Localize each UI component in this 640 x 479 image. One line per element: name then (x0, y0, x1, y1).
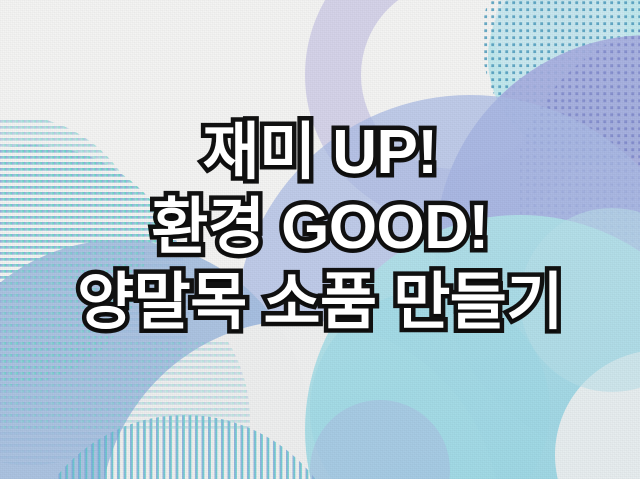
striped-circle-bottom-left (10, 400, 370, 479)
accent-stripes-left (0, 340, 320, 430)
headline-line-1: 재미 UP! (0, 122, 640, 184)
headline-line-3: 양말목 소품 만들기 (0, 272, 640, 334)
headline-block: 재미 UP! 환경 GOOD! 양말목 소품 만들기 (0, 122, 640, 334)
headline-line-2: 환경 GOOD! (0, 197, 640, 259)
poster-canvas: 재미 UP! 환경 GOOD! 양말목 소품 만들기 (0, 0, 640, 479)
white-circle-bottom-center (100, 320, 500, 479)
violet-blob-bottom-center (310, 400, 450, 479)
